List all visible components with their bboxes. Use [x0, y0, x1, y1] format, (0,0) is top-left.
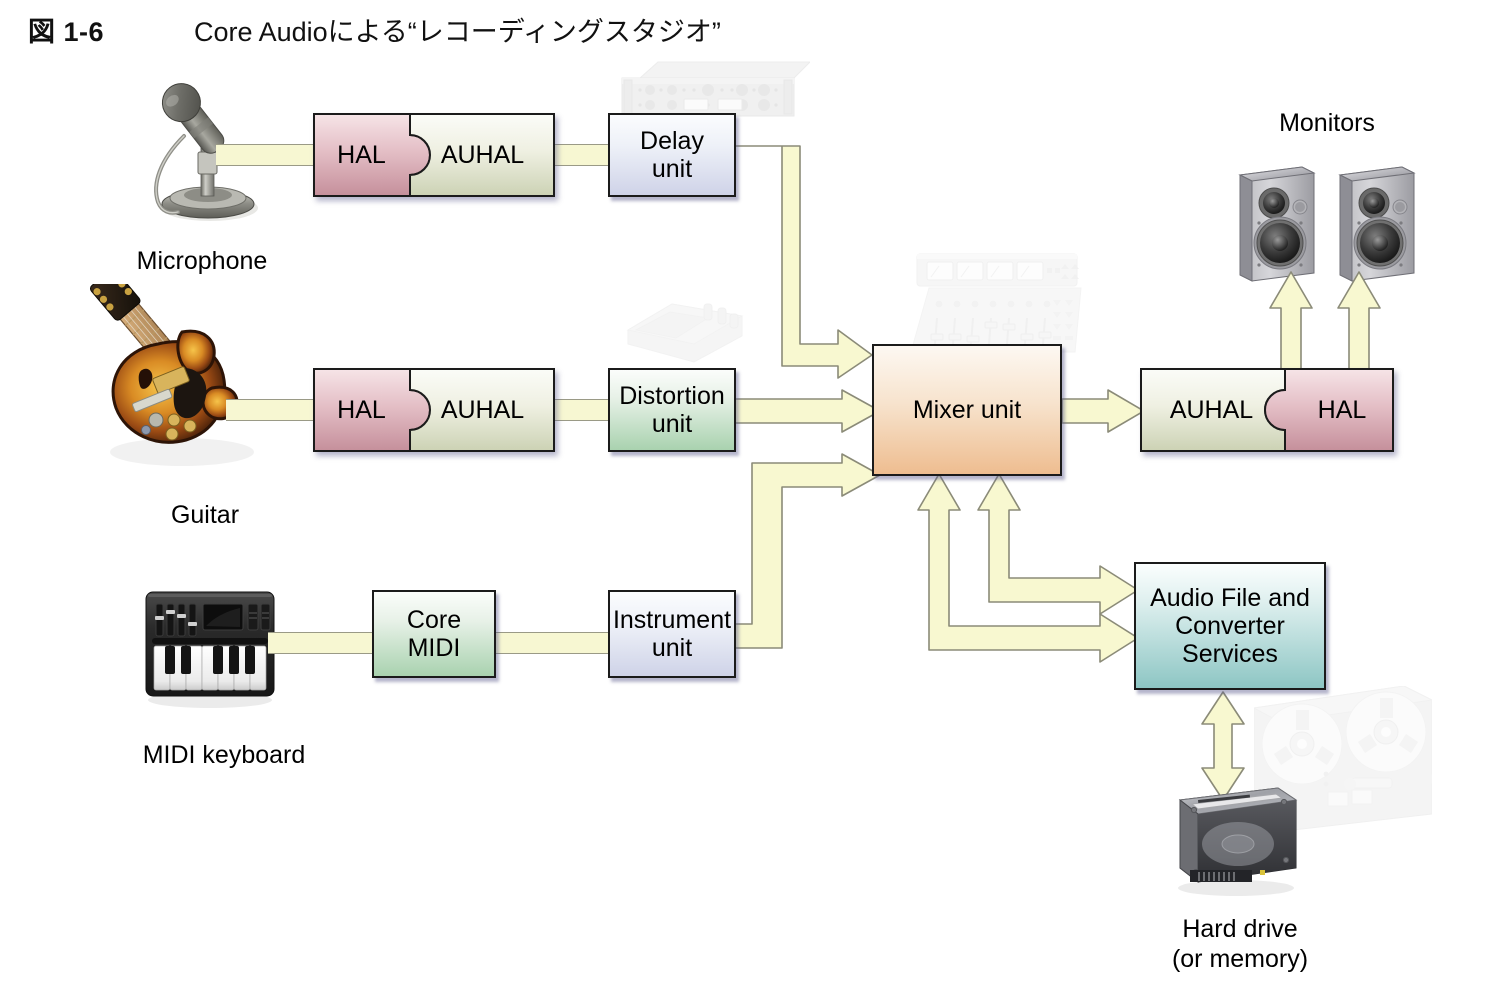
mixer-unit-box[interactable]: Mixer unit — [872, 344, 1062, 476]
arrow-hal-to-monitor-left — [1268, 272, 1314, 382]
auhal-microphone-label: AUHAL — [410, 113, 555, 197]
audio-file-converter-services-label: Audio File and Converter Services — [1150, 584, 1310, 668]
hard-drive-caption: Hard drive (or memory) — [1110, 914, 1370, 974]
midi-keyboard-icon — [140, 588, 280, 708]
hal-microphone-label: HAL — [313, 113, 410, 197]
hal-output-label: HAL — [1290, 368, 1394, 452]
arrow-services-to-mixer — [918, 474, 1140, 670]
hal-auhal-microphone-group[interactable]: HAL AUHAL — [313, 113, 555, 197]
cable-auhal-to-distortion — [552, 399, 610, 421]
guitar-caption: Guitar — [90, 500, 320, 530]
guitar-icon — [86, 284, 296, 494]
arrow-hal-to-monitor-right — [1336, 272, 1382, 382]
figure-caption: 図 1-6 Core Audioによる“レコーディングスタジオ” — [28, 10, 721, 49]
figure-title: Core Audioによる“レコーディングスタジオ” — [194, 10, 721, 49]
auhal-hal-output-group[interactable]: AUHAL HAL — [1140, 368, 1394, 452]
instrument-unit-label: Instrument unit — [613, 606, 731, 662]
audio-file-converter-services-box[interactable]: Audio File and Converter Services — [1134, 562, 1326, 690]
auhal-guitar-label: AUHAL — [410, 368, 555, 452]
arrow-delay-to-mixer — [730, 140, 880, 378]
core-midi-label: Core MIDI — [407, 606, 461, 662]
arrow-distortion-to-mixer — [730, 390, 882, 434]
mixer-unit-label: Mixer unit — [913, 396, 1021, 424]
auhal-output-label: AUHAL — [1140, 368, 1283, 452]
core-midi-box[interactable]: Core MIDI — [372, 590, 496, 678]
cable-coremidi-to-instrument — [495, 632, 610, 654]
monitors-icon — [1232, 155, 1422, 285]
cable-keyboard-to-coremidi — [268, 632, 376, 654]
distortion-unit-box[interactable]: Distortion unit — [608, 368, 736, 452]
distortion-unit-label: Distortion unit — [619, 382, 725, 438]
instrument-unit-box[interactable]: Instrument unit — [608, 590, 736, 678]
microphone-caption: Microphone — [82, 246, 322, 276]
monitors-caption: Monitors — [1222, 108, 1432, 138]
arrow-instrument-to-mixer — [730, 432, 882, 654]
cable-guitar-to-hal — [226, 399, 316, 421]
cable-auhal-to-delay — [552, 144, 610, 166]
cable-mic-to-hal — [216, 144, 316, 166]
figure-number: 図 1-6 — [28, 10, 104, 49]
arrow-mixer-to-auhal-out — [1062, 390, 1146, 434]
hard-drive-icon — [1172, 778, 1302, 898]
hal-auhal-guitar-group[interactable]: HAL AUHAL — [313, 368, 555, 452]
midi-keyboard-caption: MIDI keyboard — [90, 740, 358, 770]
mixing-console-ghost-icon — [903, 248, 1093, 356]
hal-guitar-label: HAL — [313, 368, 410, 452]
delay-unit-label: Delay unit — [640, 127, 704, 183]
delay-unit-box[interactable]: Delay unit — [608, 113, 736, 197]
